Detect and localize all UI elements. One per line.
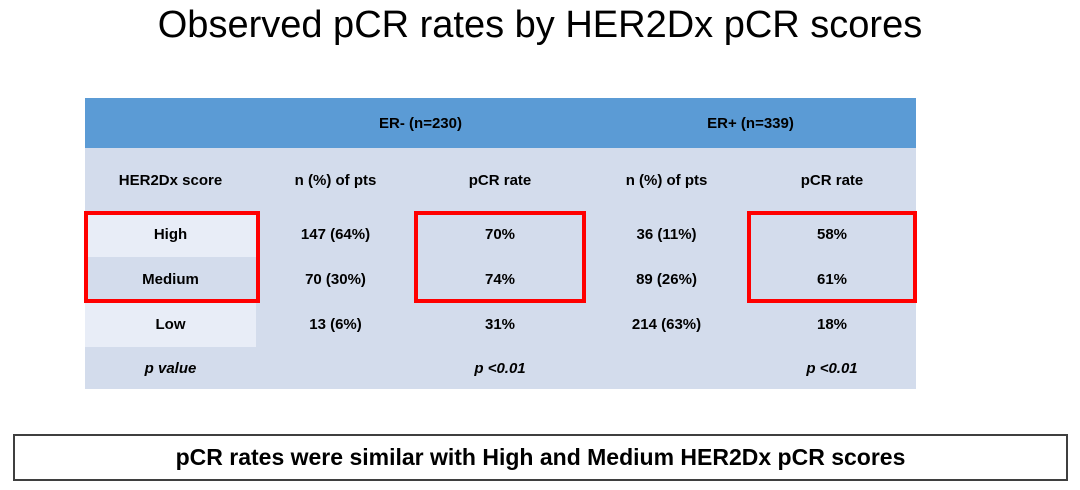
conclusion-text: pCR rates were similar with High and Med…: [176, 444, 906, 471]
cell-low-er-neg-n: 13 (6%): [256, 302, 415, 347]
conclusion-banner: pCR rates were similar with High and Med…: [13, 434, 1068, 481]
cell-score-low: Low: [85, 302, 256, 347]
cell-medium-er-pos-n: 89 (26%): [585, 257, 748, 302]
cell-high-er-pos-n: 36 (11%): [585, 212, 748, 257]
group-header-er-positive: ER+ (n=339): [585, 98, 916, 148]
table-row-high: High 147 (64%) 70% 36 (11%) 58%: [85, 212, 916, 257]
column-header-her2dx-score: HER2Dx score: [85, 148, 256, 212]
column-header-er-pos-pcr-rate: pCR rate: [748, 148, 916, 212]
cell-low-er-neg-pcr: 31%: [415, 302, 585, 347]
group-header-er-negative: ER- (n=230): [256, 98, 585, 148]
cell-high-er-neg-pcr: 70%: [415, 212, 585, 257]
cell-medium-er-neg-pcr: 74%: [415, 257, 585, 302]
table-row-p-value: p value p <0.01 p <0.01: [85, 347, 916, 389]
column-header-er-neg-n-pts: n (%) of pts: [256, 148, 415, 212]
column-header-er-pos-n-pts: n (%) of pts: [585, 148, 748, 212]
cell-high-er-pos-pcr: 58%: [748, 212, 916, 257]
table-corner-cell: [85, 98, 256, 148]
cell-p-value-label: p value: [85, 347, 256, 389]
cell-medium-er-neg-n: 70 (30%): [256, 257, 415, 302]
cell-p-value-er-neg-n: [256, 347, 415, 389]
page-title: Observed pCR rates by HER2Dx pCR scores: [0, 4, 1080, 47]
table-row-low: Low 13 (6%) 31% 214 (63%) 18%: [85, 302, 916, 347]
cell-p-value-er-pos-pcr: p <0.01: [748, 347, 916, 389]
cell-high-er-neg-n: 147 (64%): [256, 212, 415, 257]
table-column-header-row: HER2Dx score n (%) of pts pCR rate n (%)…: [85, 148, 916, 212]
cell-low-er-pos-pcr: 18%: [748, 302, 916, 347]
table-group-header-row: ER- (n=230) ER+ (n=339): [85, 98, 916, 148]
table-row-medium: Medium 70 (30%) 74% 89 (26%) 61%: [85, 257, 916, 302]
cell-p-value-er-neg-pcr: p <0.01: [415, 347, 585, 389]
pcr-rates-table: ER- (n=230) ER+ (n=339) HER2Dx score n (…: [85, 98, 916, 389]
cell-score-medium: Medium: [85, 257, 256, 302]
cell-medium-er-pos-pcr: 61%: [748, 257, 916, 302]
cell-score-high: High: [85, 212, 256, 257]
column-header-er-neg-pcr-rate: pCR rate: [415, 148, 585, 212]
cell-low-er-pos-n: 214 (63%): [585, 302, 748, 347]
cell-p-value-er-pos-n: [585, 347, 748, 389]
